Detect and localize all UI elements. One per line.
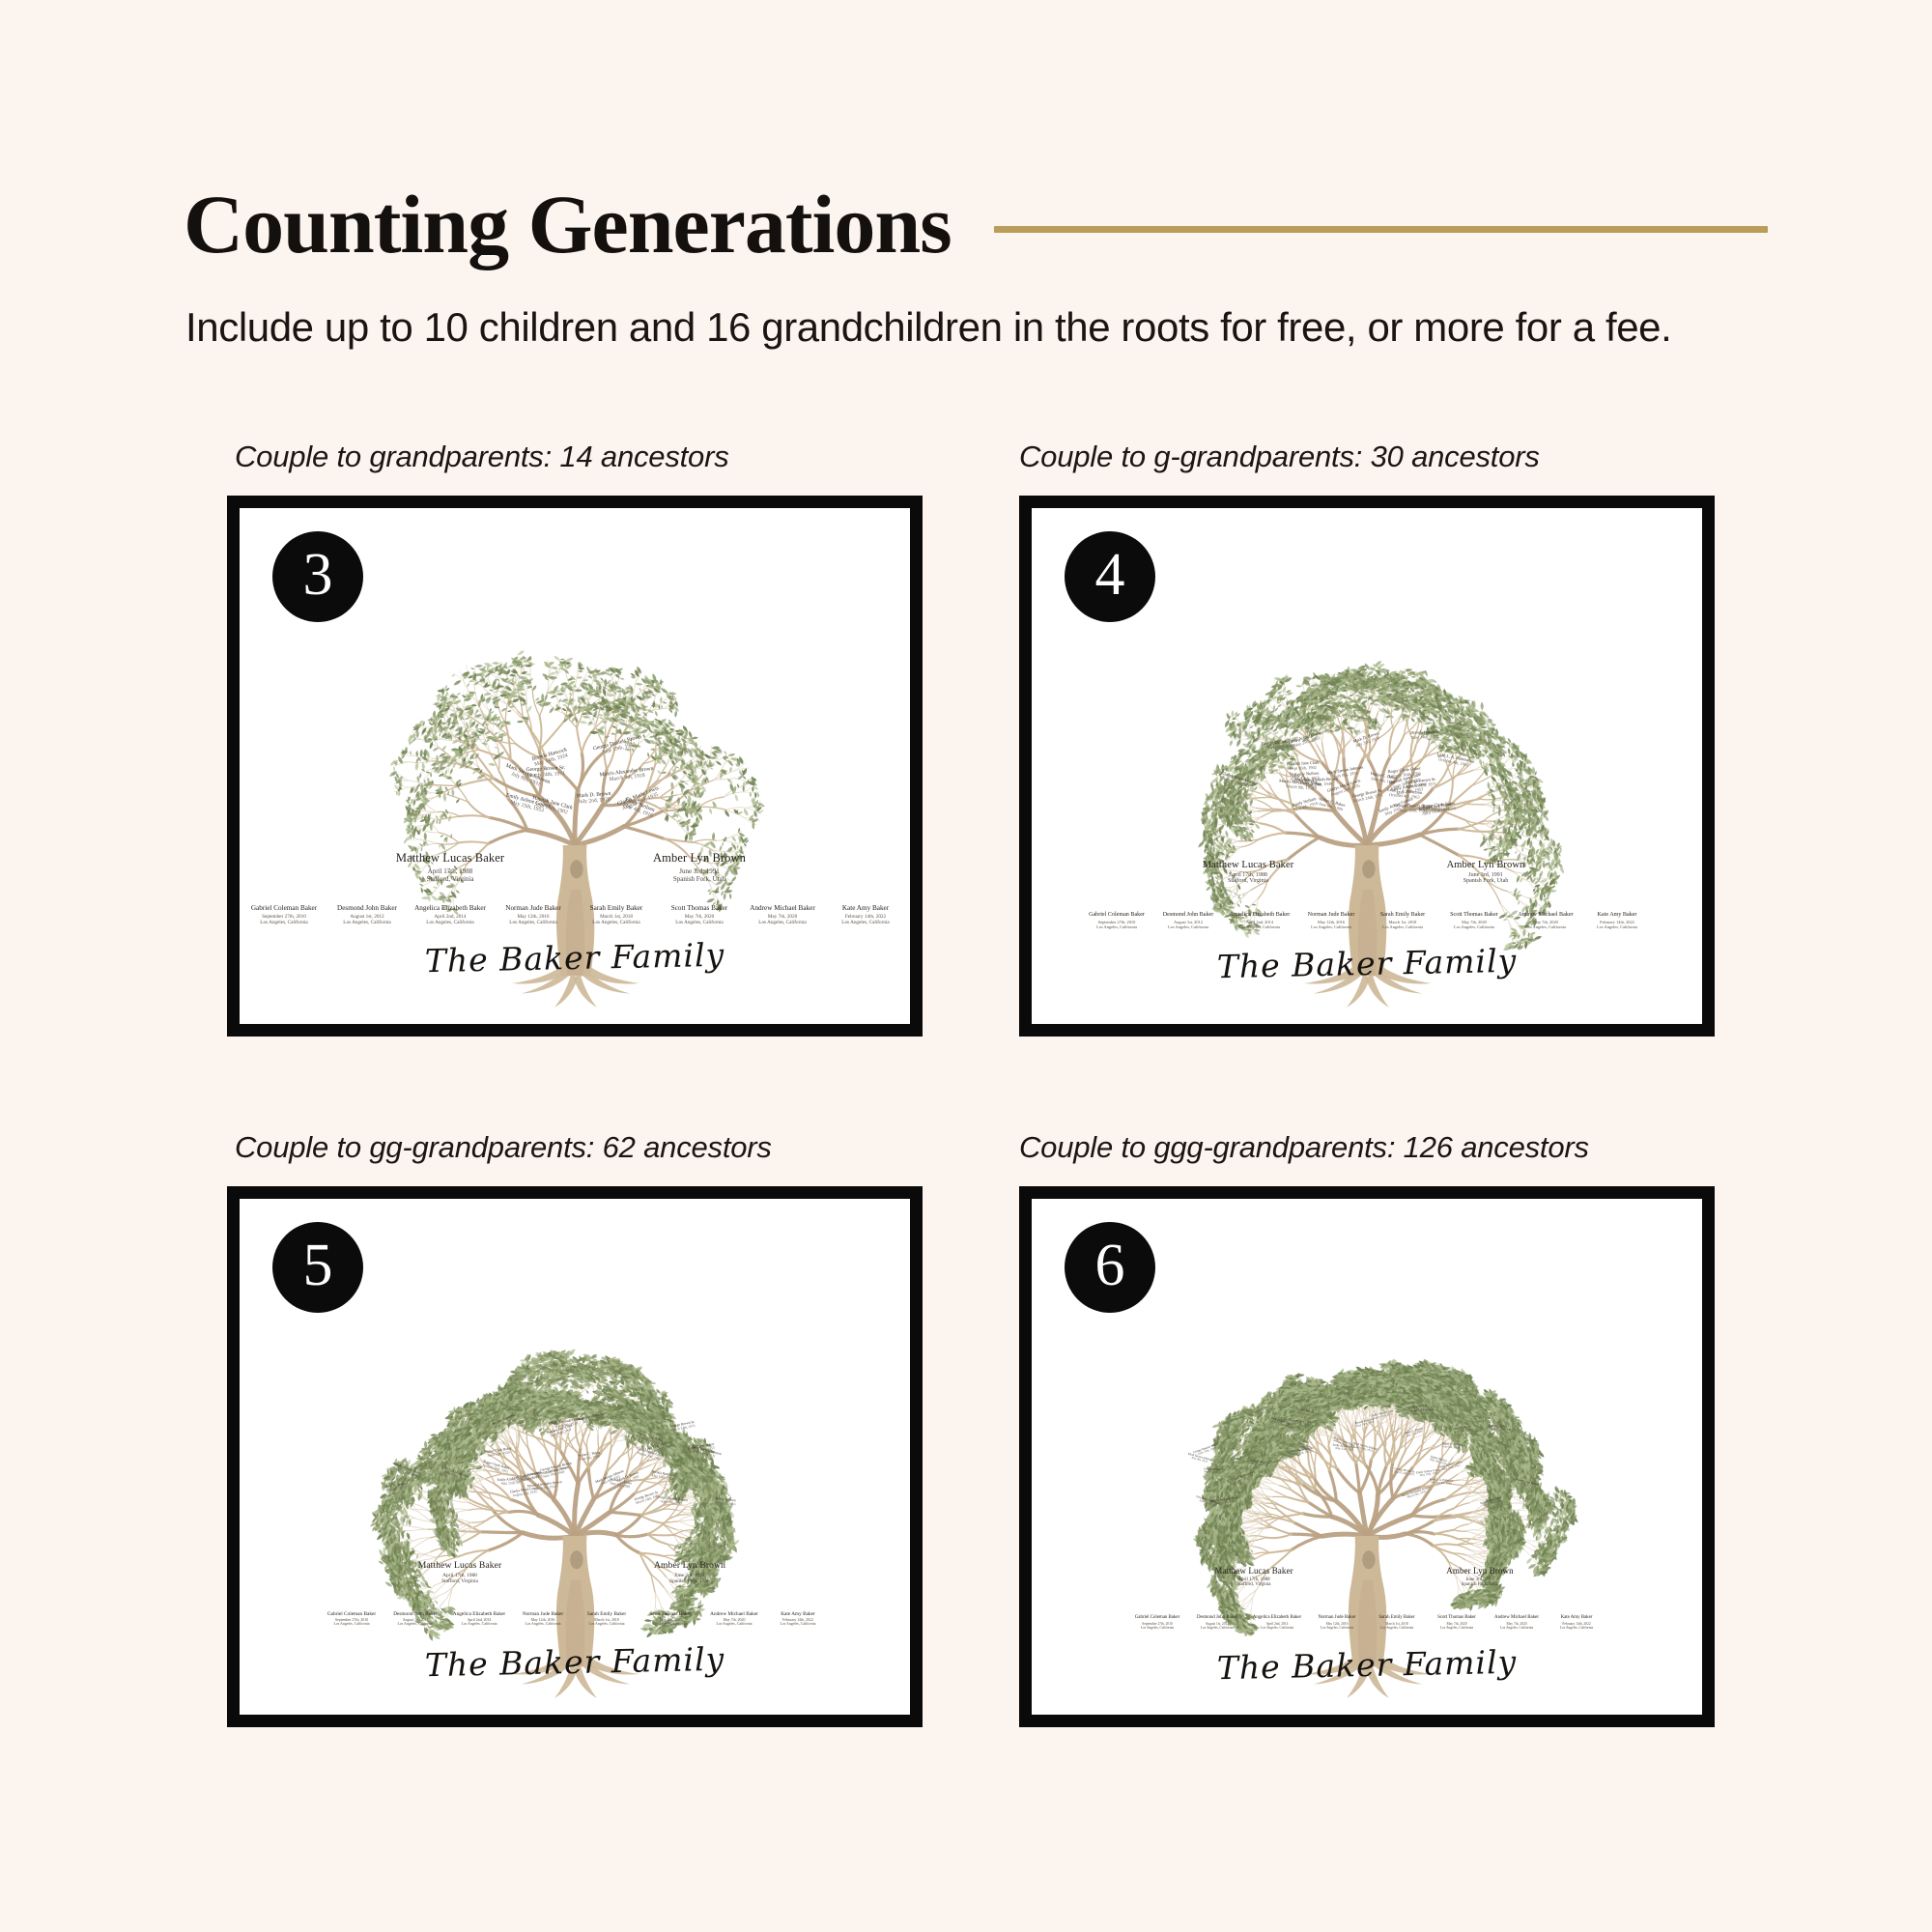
page-title: Counting Generations: [184, 185, 952, 265]
print-paper: 6 Emily Arlene GomezMay 25th, 1953George…: [1032, 1199, 1702, 1715]
poster-page: Counting Generations Include up to 10 ch…: [0, 0, 1932, 1932]
spouse-two: Amber Lyn BrownJune 3rd, 1991Spanish For…: [1393, 1566, 1567, 1587]
child-entry: Sarah Emily BakerMarch 1st, 2018Los Ange…: [575, 904, 658, 924]
child-entry: Desmond John BakerAugust 1st, 2012Los An…: [1152, 912, 1224, 929]
children-row: Gabriel Coleman BakerSeptember 27th, 201…: [240, 1611, 910, 1626]
child-entry: Desmond John BakerAugust 1st, 2012Los An…: [384, 1611, 447, 1626]
child-entry: Scott Thomas BakerMay 7th, 2020Los Angel…: [1438, 912, 1510, 929]
child-entry: Scott Thomas BakerMay 7th, 2020Los Angel…: [658, 904, 741, 924]
child-entry: Gabriel Coleman BakerSeptember 27th, 201…: [320, 1611, 384, 1626]
children-row: Gabriel Coleman BakerSeptember 27th, 201…: [1032, 1615, 1702, 1630]
couple-names: Matthew Lucas BakerApril 17th, 1988Staff…: [1032, 1566, 1702, 1587]
framed-print[interactable]: 3 Emily Arlene GomezMay 25th, 1953George…: [227, 496, 923, 1037]
child-entry: Norman Jude BakerMay 12th, 2016Los Angel…: [1307, 1615, 1367, 1630]
child-entry: Kate Amy BakerFebruary 14th, 2022Los Ang…: [1581, 912, 1653, 929]
child-entry: Desmond John BakerAugust 1st, 2012Los An…: [326, 904, 409, 924]
panel-5-generations[interactable]: Couple to gg-grandparents: 62 ancestors …: [227, 1130, 923, 1727]
spouse-one: Matthew Lucas BakerApril 17th, 1988Staff…: [373, 1560, 547, 1584]
spouse-two: Amber Lyn BrownJune 3rd, 1991Spanish For…: [612, 851, 786, 883]
child-entry: Norman Jude BakerMay 12th, 2016Los Angel…: [1295, 912, 1367, 929]
child-entry: Andrew Michael BakerMay 7th, 2020Los Ang…: [1510, 912, 1581, 929]
subtitle: Include up to 10 children and 16 grandch…: [185, 304, 1671, 351]
child-entry: Kate Amy BakerFebruary 14th, 2022Los Ang…: [824, 904, 907, 924]
panel-caption: Couple to ggg-grandparents: 126 ancestor…: [1019, 1130, 1715, 1165]
spouse-one: Matthew Lucas BakerApril 17th, 1988Staff…: [1167, 1566, 1341, 1587]
spouse-one: Matthew Lucas BakerApril 17th, 1988Staff…: [363, 851, 537, 883]
header: Counting Generations: [184, 172, 1768, 278]
child-entry: Sarah Emily BakerMarch 1st, 2018Los Ange…: [1367, 1615, 1427, 1630]
spouse-one: Matthew Lucas BakerApril 17th, 1988Staff…: [1161, 860, 1335, 884]
couple-names: Matthew Lucas BakerApril 17th, 1988Staff…: [240, 851, 910, 883]
child-entry: Angelica Elizabeth BakerApril 2nd, 2014L…: [409, 904, 492, 924]
child-entry: Scott Thomas BakerMay 7th, 2020Los Angel…: [1427, 1615, 1487, 1630]
panel-4-generations[interactable]: Couple to g-grandparents: 30 ancestors 4…: [1019, 440, 1715, 1037]
child-entry: Gabriel Coleman BakerSeptember 27th, 201…: [242, 904, 326, 924]
child-entry: Angelica Elizabeth BakerApril 2nd, 2014L…: [1247, 1615, 1307, 1630]
child-entry: Gabriel Coleman BakerSeptember 27th, 201…: [1127, 1615, 1187, 1630]
child-entry: Norman Jude BakerMay 12th, 2016Los Angel…: [511, 1611, 575, 1626]
child-entry: Andrew Michael BakerMay 7th, 2020Los Ang…: [1487, 1615, 1547, 1630]
children-row: Gabriel Coleman BakerSeptember 27th, 201…: [240, 904, 910, 924]
tree-foliage: [1193, 1358, 1578, 1636]
couple-names: Matthew Lucas BakerApril 17th, 1988Staff…: [240, 1560, 910, 1584]
child-entry: Angelica Elizabeth BakerApril 2nd, 2014L…: [1224, 912, 1295, 929]
spouse-two: Amber Lyn BrownJune 3rd, 1991Spanish For…: [1399, 860, 1573, 884]
child-entry: Norman Jude BakerMay 12th, 2016Los Angel…: [492, 904, 575, 924]
couple-names: Matthew Lucas BakerApril 17th, 1988Staff…: [1032, 860, 1702, 884]
child-entry: Desmond John BakerAugust 1st, 2012Los An…: [1187, 1615, 1247, 1630]
child-entry: Scott Thomas BakerMay 7th, 2020Los Angel…: [639, 1611, 702, 1626]
child-entry: Kate Amy BakerFebruary 14th, 2022Los Ang…: [1547, 1615, 1606, 1630]
spouse-two: Amber Lyn BrownJune 3rd, 1991Spanish For…: [603, 1560, 777, 1584]
print-paper: 4 Emily Arlene GomezMay 25th, 1953George…: [1032, 508, 1702, 1024]
child-entry: Kate Amy BakerFebruary 14th, 2022Los Ang…: [766, 1611, 830, 1626]
framed-print[interactable]: 4 Emily Arlene GomezMay 25th, 1953George…: [1019, 496, 1715, 1037]
panel-caption: Couple to grandparents: 14 ancestors: [227, 440, 923, 474]
generation-badge: 6: [1065, 1222, 1155, 1313]
child-entry: Andrew Michael BakerMay 7th, 2020Los Ang…: [741, 904, 824, 924]
panel-3-generations[interactable]: Couple to grandparents: 14 ancestors 3 E…: [227, 440, 923, 1037]
child-entry: Sarah Emily BakerMarch 1st, 2018Los Ange…: [575, 1611, 639, 1626]
generation-badge: 4: [1065, 531, 1155, 622]
print-paper: 5 Emily Arlene GomezMay 25th, 1953George…: [240, 1199, 910, 1715]
child-entry: Sarah Emily BakerMarch 1st, 2018Los Ange…: [1367, 912, 1438, 929]
panel-caption: Couple to g-grandparents: 30 ancestors: [1019, 440, 1715, 474]
panel-6-generations[interactable]: Couple to ggg-grandparents: 126 ancestor…: [1019, 1130, 1715, 1727]
panel-caption: Couple to gg-grandparents: 62 ancestors: [227, 1130, 923, 1165]
child-entry: Angelica Elizabeth BakerApril 2nd, 2014L…: [447, 1611, 511, 1626]
child-entry: Andrew Michael BakerMay 7th, 2020Los Ang…: [702, 1611, 766, 1626]
child-entry: Gabriel Coleman BakerSeptember 27th, 201…: [1081, 912, 1152, 929]
children-row: Gabriel Coleman BakerSeptember 27th, 201…: [1032, 912, 1702, 929]
title-rule: [994, 226, 1768, 233]
generation-badge: 3: [272, 531, 363, 622]
generation-badge: 5: [272, 1222, 363, 1313]
framed-print[interactable]: 6 Emily Arlene GomezMay 25th, 1953George…: [1019, 1186, 1715, 1727]
print-paper: 3 Emily Arlene GomezMay 25th, 1953George…: [240, 508, 910, 1024]
framed-print[interactable]: 5 Emily Arlene GomezMay 25th, 1953George…: [227, 1186, 923, 1727]
